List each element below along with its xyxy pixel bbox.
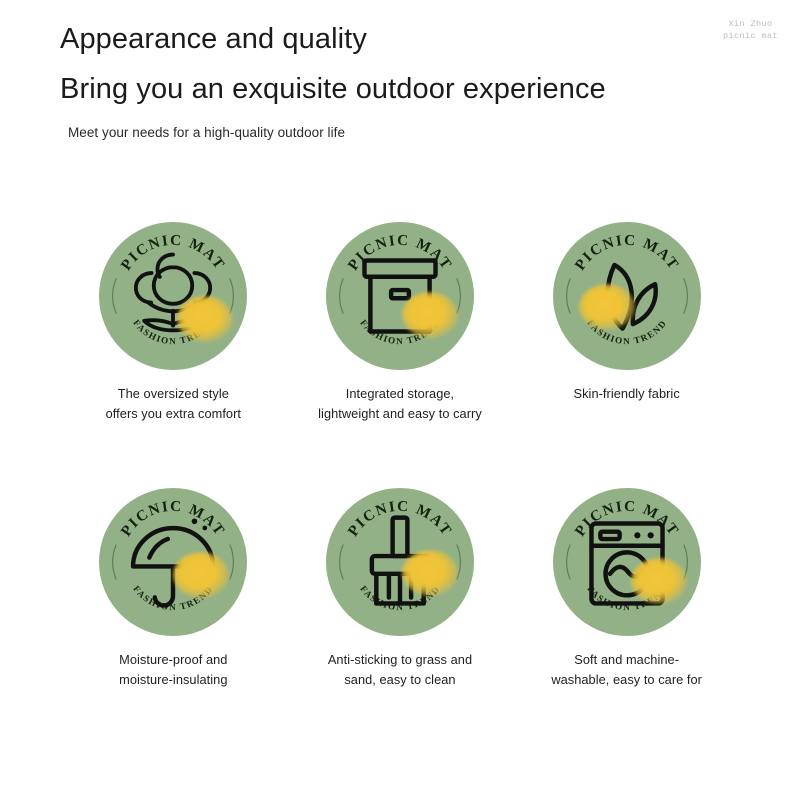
cleaning-brush-icon — [372, 518, 428, 604]
feature-caption-line: Soft and machine- — [551, 650, 702, 670]
feature-badge: PICNIC MAT FASHION TREND — [326, 222, 474, 370]
feature-item[interactable]: PICNIC MAT FASHION TREND Skin-friendly f… — [514, 222, 740, 488]
badge-artwork: PICNIC MAT FASHION TREND — [99, 222, 247, 370]
badge-artwork: PICNIC MAT FASHION TREND — [326, 488, 474, 636]
feature-caption-line: sand, easy to clean — [328, 670, 472, 690]
feature-caption: The oversized styleoffers you extra comf… — [106, 384, 241, 424]
page-title: Appearance and quality — [60, 20, 740, 59]
feature-caption-line: Anti-sticking to grass and — [328, 650, 472, 670]
badge-top-arc-text: PICNIC MAT — [572, 233, 681, 274]
feature-item[interactable]: PICNIC MAT FASHION TREND Anti-sticking t… — [287, 488, 513, 754]
feature-caption-line: Integrated storage, — [318, 384, 482, 404]
feature-grid: PICNIC MAT FASHION TREND The oversized s… — [60, 222, 740, 754]
badge-artwork: PICNIC MAT FASHION TREND — [99, 488, 247, 636]
badge-artwork: PICNIC MAT FASHION TREND — [326, 222, 474, 370]
feature-caption: Soft and machine-washable, easy to care … — [551, 650, 702, 690]
feature-item[interactable]: PICNIC MAT FASHION TREND Integrated stor… — [287, 222, 513, 488]
page-tagline: Meet your needs for a high-quality outdo… — [68, 125, 740, 140]
feature-caption: Skin-friendly fabric — [574, 384, 680, 404]
page-subtitle: Bring you an exquisite outdoor experienc… — [60, 70, 740, 109]
feature-caption-line: Skin-friendly fabric — [574, 384, 680, 404]
badge-bottom-arc-text: FASHION TREND — [585, 584, 668, 612]
feature-caption-line: lightweight and easy to carry — [318, 404, 482, 424]
two-leaves-icon — [607, 265, 655, 329]
washing-machine-icon — [591, 524, 662, 604]
feature-item[interactable]: PICNIC MAT FASHION TREND Soft and machin… — [514, 488, 740, 754]
feature-caption-line: moisture-insulating — [119, 670, 227, 690]
feature-badge: PICNIC MAT FASHION TREND — [553, 222, 701, 370]
page-header: Appearance and quality Bring you an exqu… — [60, 20, 740, 140]
cotton-flower-icon — [136, 255, 210, 331]
feature-badge: PICNIC MAT FASHION TREND — [99, 222, 247, 370]
feature-item[interactable]: PICNIC MAT FASHION TREND The oversized s… — [60, 222, 286, 488]
badge-top-arc-text: PICNIC MAT — [345, 233, 454, 274]
badge-artwork: PICNIC MAT FASHION TREND — [553, 488, 701, 636]
feature-badge: PICNIC MAT FASHION TREND — [99, 488, 247, 636]
feature-item[interactable]: PICNIC MAT FASHION TREND Moisture-proof … — [60, 488, 286, 754]
feature-caption-line: The oversized style — [106, 384, 241, 404]
feature-caption-line: washable, easy to care for — [551, 670, 702, 690]
badge-top-arc-text: PICNIC MAT — [572, 499, 681, 540]
badge-artwork: PICNIC MAT FASHION TREND — [553, 222, 701, 370]
feature-badge: PICNIC MAT FASHION TREND — [326, 488, 474, 636]
feature-caption-line: Moisture-proof and — [119, 650, 227, 670]
feature-badge: PICNIC MAT FASHION TREND — [553, 488, 701, 636]
feature-caption: Moisture-proof andmoisture-insulating — [119, 650, 227, 690]
badge-top-arc-text: PICNIC MAT — [119, 499, 228, 540]
storage-box-icon — [364, 260, 435, 331]
feature-caption: Integrated storage,lightweight and easy … — [318, 384, 482, 424]
feature-caption: Anti-sticking to grass andsand, easy to … — [328, 650, 472, 690]
feature-caption-line: offers you extra comfort — [106, 404, 241, 424]
